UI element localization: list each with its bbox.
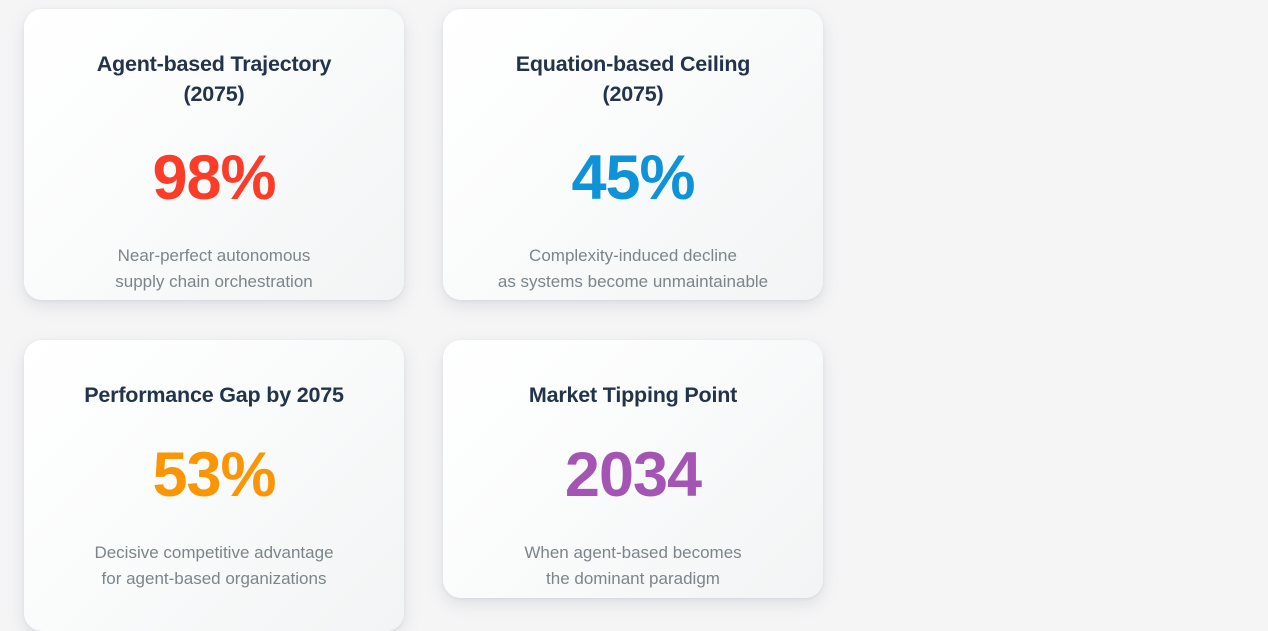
kpi-card-grid: Agent-based Trajectory (2075) 98% Near-p… [0,0,1268,628]
kpi-card-agent-based-trajectory[interactable]: Agent-based Trajectory (2075) 98% Near-p… [24,9,404,300]
kpi-card-title: Equation-based Ceiling (2075) [516,49,751,109]
kpi-card-title: Agent-based Trajectory (2075) [97,49,332,109]
kpi-card-equation-based-ceiling[interactable]: Equation-based Ceiling (2075) 45% Comple… [443,9,823,300]
kpi-card-market-tipping-point[interactable]: Market Tipping Point 2034 When agent-bas… [443,340,823,598]
kpi-card-title: Market Tipping Point [529,380,737,410]
kpi-card-description: Near-perfect autonomous supply chain orc… [115,243,313,295]
kpi-card-description: Complexity-induced decline as systems be… [498,243,768,295]
kpi-card-description: When agent-based becomes the dominant pa… [524,540,741,592]
kpi-card-performance-gap[interactable]: Performance Gap by 2075 53% Decisive com… [24,340,404,631]
kpi-card-value: 98% [152,147,275,210]
kpi-card-value: 2034 [565,444,701,507]
kpi-card-description: Decisive competitive advantage for agent… [94,540,333,592]
kpi-card-title: Performance Gap by 2075 [84,380,344,410]
kpi-card-value: 45% [571,147,694,210]
kpi-card-value: 53% [152,444,275,507]
